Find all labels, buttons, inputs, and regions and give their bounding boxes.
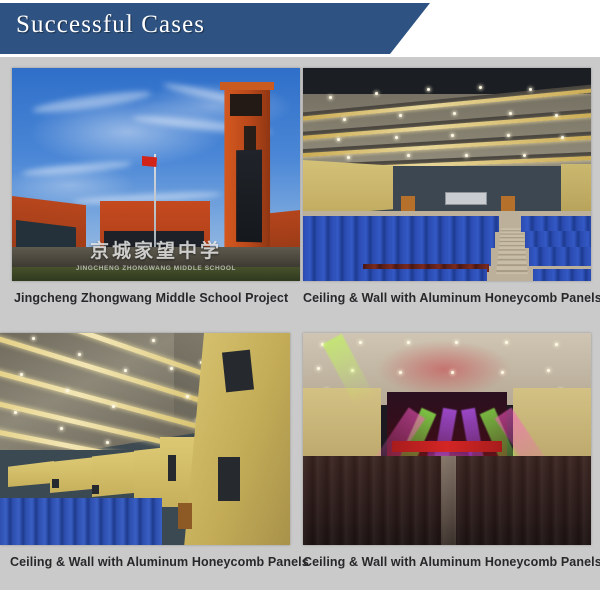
gallery-item[interactable]: Ceiling & Wall with Aluminum Honeycomb P… bbox=[303, 68, 600, 305]
red-flag bbox=[142, 156, 157, 167]
downlight bbox=[523, 154, 526, 157]
seat-block bbox=[0, 498, 162, 545]
downlight bbox=[20, 373, 23, 376]
downlight bbox=[455, 341, 458, 344]
downlight bbox=[501, 371, 504, 374]
gallery-area: 京城家望中学 JINGCHENG ZHONGWANG MIDDLE SCHOOL… bbox=[0, 57, 600, 590]
downlight bbox=[124, 369, 127, 372]
downlight bbox=[186, 395, 189, 398]
downlight bbox=[317, 367, 320, 370]
watermark-english: JINGCHENG ZHONGWANG MIDDLE SCHOOL bbox=[76, 265, 236, 272]
acoustic-panel-yellow bbox=[92, 451, 140, 497]
acoustic-panel-yellow bbox=[561, 164, 591, 216]
downlight bbox=[78, 353, 81, 356]
downlight bbox=[32, 337, 35, 340]
photo-frame-school[interactable]: 京城家望中学 JINGCHENG ZHONGWANG MIDDLE SCHOOL bbox=[12, 68, 300, 281]
downlight bbox=[407, 154, 410, 157]
downlight bbox=[427, 88, 430, 91]
seat-row bbox=[303, 231, 495, 248]
downlight bbox=[337, 138, 340, 141]
downlight bbox=[343, 118, 346, 121]
page-title: Successful Cases bbox=[16, 11, 205, 39]
tower-top-beam bbox=[220, 82, 274, 90]
downlight bbox=[106, 441, 109, 444]
wall-recess bbox=[52, 479, 59, 488]
downlight bbox=[60, 427, 63, 430]
photo-frame-stage-show[interactable] bbox=[303, 333, 591, 545]
wall-recess bbox=[218, 457, 240, 501]
wall-recess bbox=[222, 350, 254, 393]
gallery-caption: Ceiling & Wall with Aluminum Honeycomb P… bbox=[303, 291, 600, 305]
wall-recess bbox=[92, 485, 99, 494]
seat-row bbox=[521, 216, 591, 232]
photo-frame-auditorium-seats[interactable] bbox=[303, 68, 591, 281]
successful-cases-page: Successful Cases bbox=[0, 0, 600, 600]
downlight bbox=[547, 369, 550, 372]
ceiling-color-wash bbox=[378, 341, 510, 396]
downlight bbox=[509, 112, 512, 115]
downlight bbox=[395, 136, 398, 139]
downlight bbox=[451, 371, 454, 374]
downlight bbox=[152, 339, 155, 342]
downlight bbox=[347, 156, 350, 159]
header-banner: Successful Cases bbox=[0, 0, 600, 57]
downlight bbox=[359, 341, 362, 344]
gallery-item[interactable]: 京城家望中学 JINGCHENG ZHONGWANG MIDDLE SCHOOL… bbox=[12, 68, 300, 305]
seat-row bbox=[525, 231, 591, 248]
seat-row bbox=[533, 269, 591, 281]
downlight bbox=[505, 341, 508, 344]
aisle-stairs bbox=[496, 228, 528, 274]
downlight bbox=[529, 88, 532, 91]
downlight bbox=[329, 96, 332, 99]
rear-wall-screen bbox=[445, 192, 487, 205]
wall-recess bbox=[168, 455, 176, 481]
downlight bbox=[507, 134, 510, 137]
downlight bbox=[465, 154, 468, 157]
downlight bbox=[170, 367, 173, 370]
downlight bbox=[555, 114, 558, 117]
downlight bbox=[479, 86, 482, 89]
downlight bbox=[66, 389, 69, 392]
seat-row bbox=[303, 216, 499, 232]
downlight bbox=[14, 411, 17, 414]
downlight bbox=[399, 114, 402, 117]
downlight bbox=[561, 136, 564, 139]
watermark-chinese: 京城家望中学 bbox=[90, 236, 222, 263]
seat-row bbox=[529, 247, 591, 266]
gallery-caption: Ceiling & Wall with Aluminum Honeycomb P… bbox=[0, 555, 309, 569]
tower-opening bbox=[230, 94, 262, 116]
tower-window bbox=[236, 150, 262, 243]
downlight bbox=[112, 405, 115, 408]
photo-school-campus: 京城家望中学 JINGCHENG ZHONGWANG MIDDLE SCHOOL bbox=[12, 68, 300, 281]
center-aisle bbox=[441, 456, 455, 545]
auditorium-door bbox=[178, 503, 192, 529]
downlight bbox=[453, 112, 456, 115]
gallery-item[interactable]: Ceiling & Wall with Aluminum Honeycomb P… bbox=[0, 333, 309, 569]
downlight bbox=[555, 343, 558, 346]
photo-ceiling-detail bbox=[0, 333, 290, 545]
photo-stage-lighting bbox=[303, 333, 591, 545]
photo-frame-ceiling-panels[interactable] bbox=[0, 333, 290, 545]
downlight bbox=[399, 371, 402, 374]
gallery-caption: Jingcheng Zhongwang Middle School Projec… bbox=[12, 291, 300, 305]
downlight bbox=[375, 92, 378, 95]
photo-auditorium-seating bbox=[303, 68, 591, 281]
gallery-item[interactable]: Ceiling & Wall with Aluminum Honeycomb P… bbox=[303, 333, 600, 569]
seat-row bbox=[303, 264, 363, 278]
downlight bbox=[407, 341, 410, 344]
acoustic-panel-yellow bbox=[303, 160, 393, 216]
gallery-caption: Ceiling & Wall with Aluminum Honeycomb P… bbox=[303, 555, 600, 569]
downlight bbox=[451, 134, 454, 137]
